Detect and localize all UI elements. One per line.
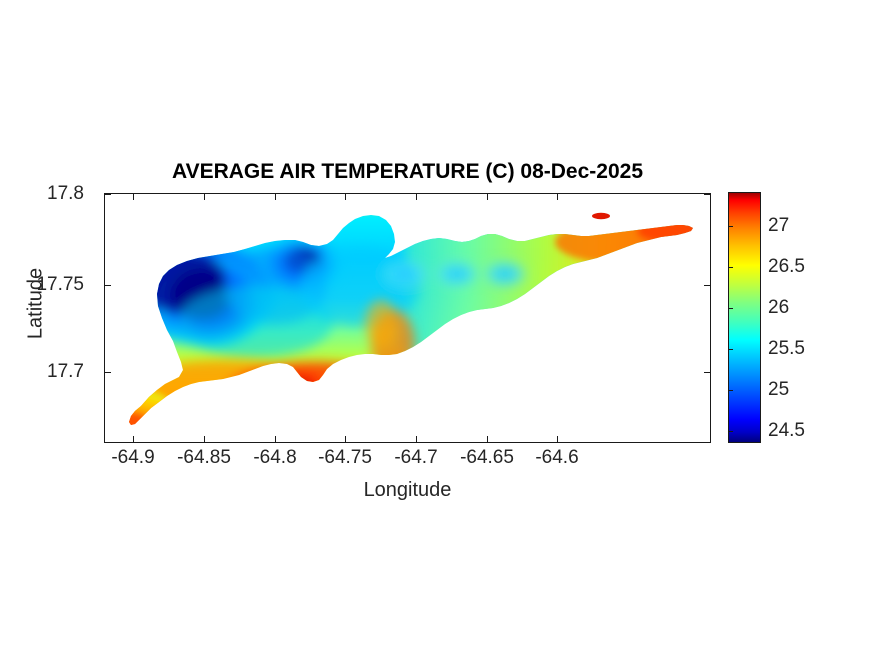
- offshore-island-marker: [585, 208, 621, 226]
- ytick-mark: [104, 372, 111, 373]
- xtick-label: -64.75: [318, 447, 372, 469]
- map-axes: [104, 193, 711, 443]
- xtick-mark: [133, 436, 134, 443]
- xtick-mark: [133, 193, 134, 200]
- xtick-mark: [204, 193, 205, 200]
- xtick-mark: [345, 193, 346, 200]
- x-axis-label: Longitude: [104, 479, 711, 502]
- colorbar-label: 25.5: [768, 338, 805, 360]
- xtick-label: -64.9: [111, 447, 154, 469]
- xtick-mark: [416, 193, 417, 200]
- map-plot-area: [105, 194, 710, 442]
- colorbar-tick: [728, 308, 733, 309]
- colorbar-tick: [728, 267, 733, 268]
- ytick-mark: [704, 194, 711, 195]
- xtick-mark: [275, 193, 276, 200]
- ytick-mark: [104, 194, 111, 195]
- xtick-label: -64.6: [535, 447, 578, 469]
- colorbar: [728, 192, 761, 443]
- xtick-label: -64.65: [460, 447, 514, 469]
- xtick-label: -64.8: [253, 447, 296, 469]
- colorbar-tick: [728, 349, 733, 350]
- colorbar-label: 26.5: [768, 256, 805, 278]
- colorbar-tick: [728, 431, 733, 432]
- xtick-mark: [487, 436, 488, 443]
- ytick-mark: [704, 285, 711, 286]
- xtick-mark: [416, 436, 417, 443]
- xtick-mark: [557, 193, 558, 200]
- colorbar-tick: [728, 226, 733, 227]
- colorbar-label: 24.5: [768, 420, 805, 442]
- xtick-mark: [557, 436, 558, 443]
- colorbar-tick: [728, 390, 733, 391]
- xtick-mark: [204, 436, 205, 443]
- xtick-mark: [345, 436, 346, 443]
- xtick-mark: [275, 436, 276, 443]
- ytick-label: 17.8: [47, 183, 84, 205]
- colorbar-label: 27: [768, 215, 789, 237]
- xtick-label: -64.85: [177, 447, 231, 469]
- ytick-mark: [104, 285, 111, 286]
- temperature-contour-map: [105, 194, 710, 442]
- xtick-label: -64.7: [394, 447, 437, 469]
- y-axis-label: Latitude: [25, 244, 48, 364]
- colorbar-label: 25: [768, 379, 789, 401]
- xtick-mark: [487, 193, 488, 200]
- matlab-figure-window: AVERAGE AIR TEMPERATURE (C) 08-Dec-2025: [0, 0, 875, 656]
- island-temperature-field: [105, 194, 710, 442]
- page-title: AVERAGE AIR TEMPERATURE (C) 08-Dec-2025: [104, 160, 711, 184]
- ytick-mark: [704, 372, 711, 373]
- colorbar-label: 26: [768, 297, 789, 319]
- ytick-label: 17.7: [47, 361, 84, 383]
